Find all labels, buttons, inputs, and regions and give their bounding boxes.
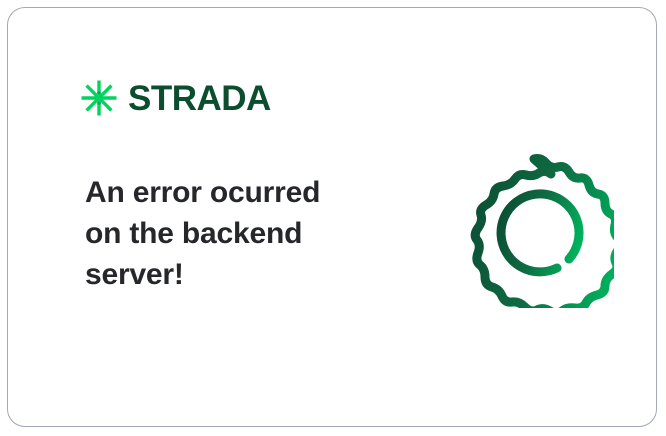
brand-wordmark: STRADA <box>128 81 271 116</box>
strada-asterisk-icon <box>79 78 119 118</box>
brand-lockup: STRADA <box>79 76 271 120</box>
error-page: STRADA An error ocurred on the backend s… <box>0 0 666 436</box>
gear-icon <box>454 146 614 308</box>
error-message-line-1: An error ocurred <box>85 172 385 213</box>
error-message-line-3: server! <box>85 254 385 295</box>
error-message-line-2: on the backend <box>85 213 385 254</box>
error-message: An error ocurred on the backend server! <box>85 172 385 295</box>
error-card: STRADA An error ocurred on the backend s… <box>7 7 657 427</box>
